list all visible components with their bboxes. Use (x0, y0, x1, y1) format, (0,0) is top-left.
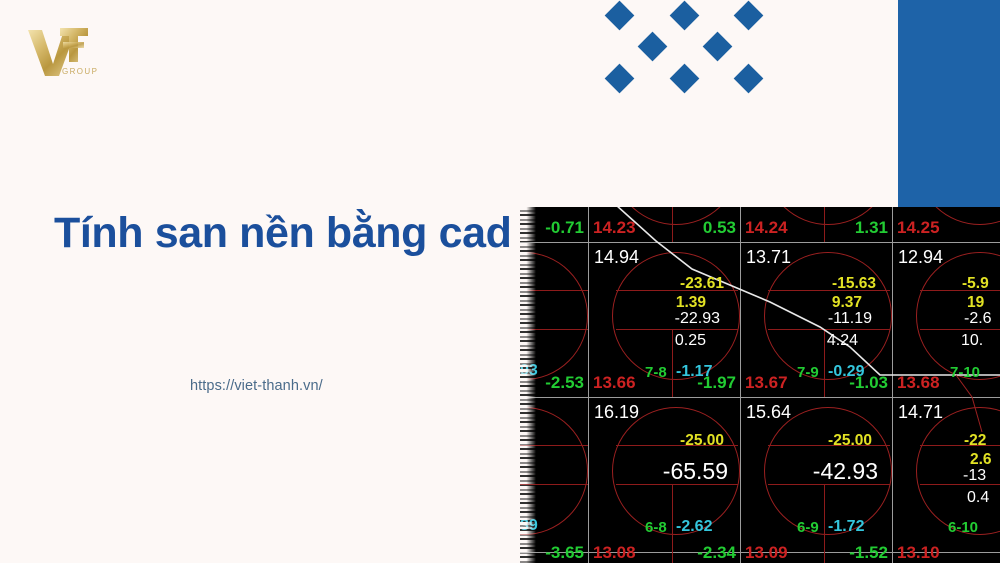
cell-cut-top: -13 (963, 468, 986, 484)
cell-footer-left: 13.08 (593, 544, 636, 561)
cell-header-left: 13.66 (593, 374, 636, 391)
diamond-6 (605, 64, 635, 94)
cad-rule (920, 445, 1000, 446)
cad-rule (920, 329, 1000, 330)
cell-footer-right: -2.34 (660, 544, 736, 561)
cad-rule (672, 484, 673, 552)
cad-rule (616, 329, 738, 330)
grid-line-v (740, 207, 741, 563)
svg-text:GROUP: GROUP (62, 67, 98, 76)
cad-rule (920, 484, 1000, 485)
cad-screenshot: -0.71 14.23 0.53 14.24 1.31 14.25 14.94 … (520, 207, 1000, 563)
cell-header-right: 1.31 (812, 219, 888, 236)
cad-drawing: -0.71 14.23 0.53 14.24 1.31 14.25 14.94 … (520, 207, 1000, 563)
grid-line-h (520, 397, 1000, 398)
cell-design-top: -5.9 (962, 276, 989, 292)
cell-footer-right: -1.52 (812, 544, 888, 561)
grid-line-v (892, 207, 893, 563)
cad-rule (768, 484, 890, 485)
diamond-2 (670, 1, 700, 31)
cell-cut-top: -11.19 (768, 311, 872, 327)
cell-design-top: -23.61 (620, 276, 724, 292)
cell-label: 6-10 (948, 520, 978, 535)
source-url[interactable]: https://viet-thanh.vn/ (190, 378, 323, 394)
diamond-decoration (600, 0, 780, 100)
cell-cut-bottom: 4.24 (768, 333, 858, 349)
cell-elevation: 16.19 (594, 403, 639, 421)
page-title: Tính san nền bằng cad (54, 209, 524, 258)
logo-mark-icon: GROUP (22, 22, 108, 82)
diamond-1 (605, 1, 635, 31)
cell-elevation: 15.64 (746, 403, 791, 421)
diamond-8 (734, 64, 764, 94)
diamond-3 (734, 1, 764, 31)
cell-header-right: -1.97 (660, 374, 736, 391)
cell-delta: -1.72 (828, 519, 864, 535)
cell-cut-top: -65.59 (610, 460, 728, 483)
cell-footer-left: 13.09 (745, 544, 788, 561)
cell-header-left: 14.23 (593, 219, 636, 236)
cell-label: 6-8 (645, 520, 667, 535)
slide-canvas: GROUP Tính san nền bằng cad https://viet… (0, 0, 1000, 563)
cell-cut-top: -22.93 (616, 311, 720, 327)
cell-design-bottom: 1.39 (620, 295, 706, 311)
cad-rule (616, 484, 738, 485)
cell-elevation: 14.94 (594, 248, 639, 266)
cell-design-top: -25.00 (620, 433, 724, 449)
diamond-7 (670, 64, 700, 94)
diamond-5 (703, 32, 733, 62)
cell-cut-bottom: 10. (961, 333, 983, 349)
cell-header-left: 13.68 (897, 374, 940, 391)
cell-design-bottom: 9.37 (772, 295, 862, 311)
cad-rule (824, 484, 825, 552)
cell-footer-left: 13.10 (897, 544, 940, 561)
cell-delta: -2.62 (676, 519, 712, 535)
cad-rule (768, 329, 890, 330)
cell-design-top: -25.00 (768, 433, 872, 449)
cell-header-right: -1.03 (812, 374, 888, 391)
cell-elevation: 14.71 (898, 403, 943, 421)
cad-circle (916, 407, 1000, 535)
cell-elevation: 12.94 (898, 248, 943, 266)
cell-design-top: -22 (964, 433, 986, 449)
cell-header-left: 14.24 (745, 219, 788, 236)
cell-cut-top: -2.6 (964, 311, 992, 327)
grid-line-v (588, 207, 589, 563)
cell-label: 7-10 (950, 365, 980, 380)
cell-cut-top: -42.93 (760, 460, 878, 483)
diamond-4 (638, 32, 668, 62)
vt-group-logo: GROUP (22, 22, 108, 82)
image-ragged-edge (520, 207, 536, 563)
cell-label: 6-9 (797, 520, 819, 535)
cell-elevation: 13.71 (746, 248, 791, 266)
cell-design-bottom: 2.6 (970, 452, 992, 468)
cell-header-right: 0.53 (660, 219, 736, 236)
cell-header-left: 14.25 (897, 219, 940, 236)
cell-header-left: 13.67 (745, 374, 788, 391)
blue-corner-block (898, 0, 1000, 207)
cell-cut-bottom: 0.4 (967, 490, 989, 506)
grid-line-h (520, 242, 1000, 243)
cell-cut-bottom: 0.25 (616, 333, 706, 349)
cell-design-bottom: 19 (967, 295, 984, 311)
cell-design-top: -15.63 (772, 276, 876, 292)
